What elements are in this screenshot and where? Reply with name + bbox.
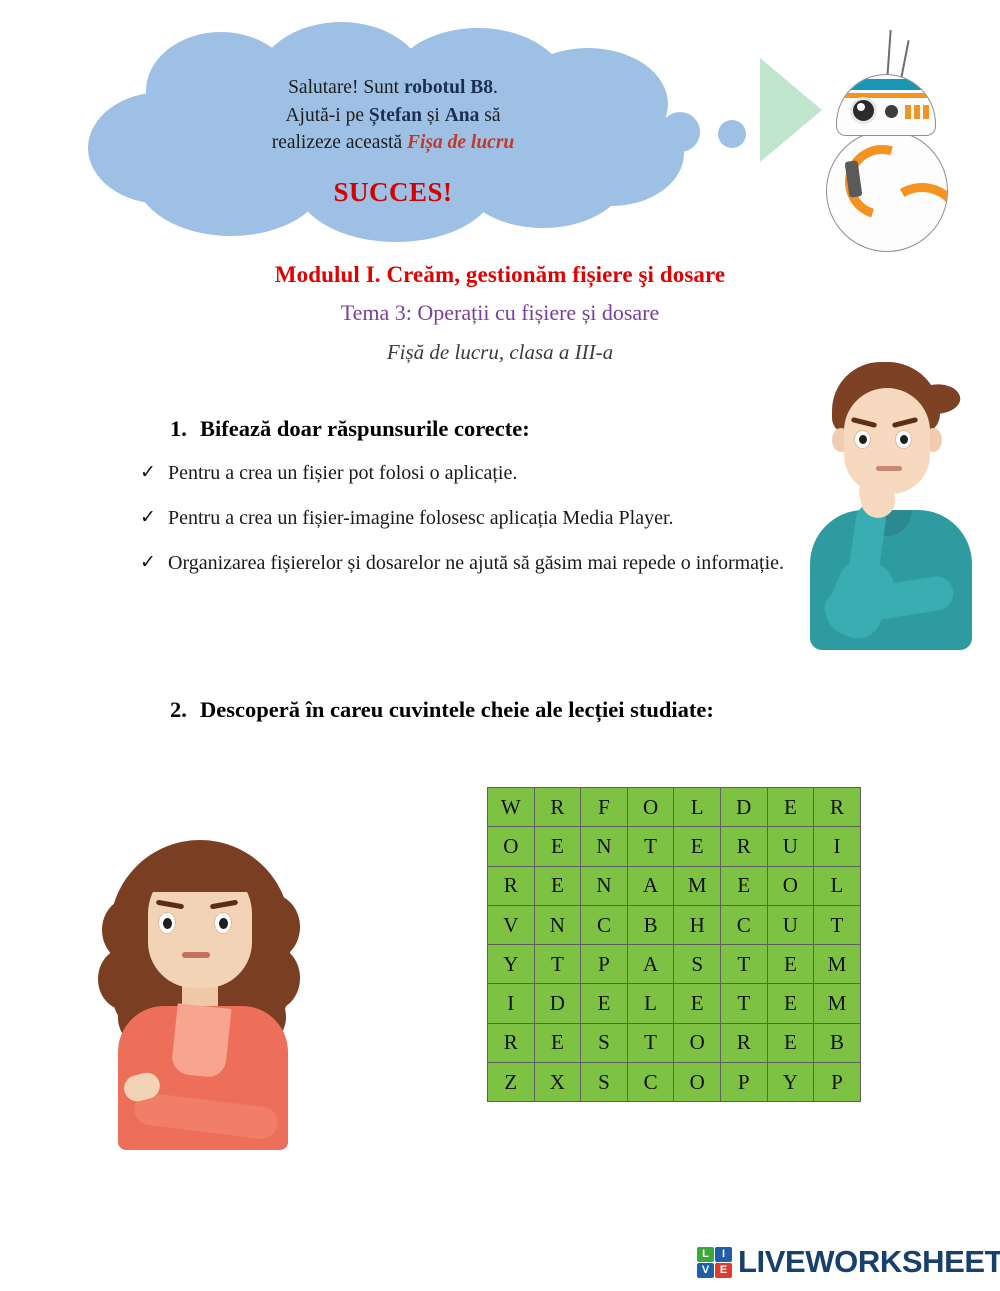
word-search-row: VNCBHCUT <box>488 905 861 944</box>
exercise-2-heading-text: Descoperă în careu cuvintele cheie ale l… <box>200 697 714 722</box>
bubble-line-1: Salutare! Sunt robotul B8. <box>88 74 698 102</box>
robot-antenna-long <box>886 30 892 78</box>
word-search-cell[interactable]: S <box>674 945 721 984</box>
word-search-row: YTPASTEM <box>488 945 861 984</box>
word-search-cell[interactable]: S <box>581 1023 628 1062</box>
word-search-cell[interactable]: A <box>627 945 674 984</box>
robot-main-eye-icon <box>850 97 877 124</box>
word-search-cell[interactable]: R <box>534 788 581 827</box>
word-search-cell[interactable]: E <box>674 827 721 866</box>
word-search-cell[interactable]: E <box>581 984 628 1023</box>
word-search-cell[interactable]: S <box>581 1063 628 1102</box>
word-search-cell[interactable]: F <box>581 788 628 827</box>
word-search-cell[interactable]: L <box>814 866 861 905</box>
word-search-cell[interactable]: E <box>534 866 581 905</box>
logo-tiles-icon: L I V E <box>697 1247 732 1278</box>
word-search-cell[interactable]: O <box>488 827 535 866</box>
bubble-line-3: realizeze această Fișa de lucru <box>88 129 698 157</box>
word-search-cell[interactable]: O <box>627 788 674 827</box>
word-search-cell[interactable]: N <box>581 827 628 866</box>
bubble-fisa-de-lucru: Fișa de lucru <box>407 132 514 153</box>
word-search-cell[interactable]: R <box>720 827 767 866</box>
robot-head-band <box>847 79 925 90</box>
word-search-cell[interactable]: P <box>581 945 628 984</box>
bubble-line2-part3: și <box>422 105 445 126</box>
speech-bubble: Salutare! Sunt robotul B8. Ajută-i pe Șt… <box>88 22 698 242</box>
answer-option[interactable]: ✓ Organizarea fișierelor și dosarelor ne… <box>140 548 800 579</box>
checkmark-icon[interactable]: ✓ <box>140 458 168 487</box>
robot-head-bar <box>914 105 920 119</box>
logo-tile-l: L <box>697 1247 714 1262</box>
word-search-cell[interactable]: E <box>720 866 767 905</box>
theme-title: Tema 3: Operații cu fișiere și dosare <box>0 300 1000 326</box>
girl-fringe <box>144 852 256 892</box>
girl-lapel <box>170 1003 231 1078</box>
word-search-cell[interactable]: T <box>720 945 767 984</box>
bubble-line-2: Ajută-i pe Ștefan și Ana să <box>88 102 698 130</box>
word-search-cell[interactable]: E <box>767 1023 814 1062</box>
checkmark-icon[interactable]: ✓ <box>140 548 168 577</box>
worksheet-titles: Modulul I. Creăm, gestionăm fișiere şi d… <box>0 262 1000 365</box>
word-search-cell[interactable]: E <box>534 827 581 866</box>
word-search-row: ZXSCOPYP <box>488 1063 861 1102</box>
word-search-cell[interactable]: E <box>767 788 814 827</box>
bubble-line2-part5: să <box>479 105 500 126</box>
logo-wordmark: LIVEWORKSHEETS <box>738 1244 1000 1280</box>
word-search-cell[interactable]: R <box>720 1023 767 1062</box>
word-search-cell[interactable]: V <box>488 905 535 944</box>
word-search-row: RESTOREB <box>488 1023 861 1062</box>
word-search-cell[interactable]: U <box>767 905 814 944</box>
logo-tile-v: V <box>697 1263 714 1278</box>
word-search-cell[interactable]: R <box>488 1023 535 1062</box>
robot-b8-illustration <box>812 26 962 254</box>
girl-character-illustration <box>96 832 310 1150</box>
word-search-cell[interactable]: X <box>534 1063 581 1102</box>
robot-head-bar <box>923 105 929 119</box>
word-search-cell[interactable]: B <box>814 1023 861 1062</box>
answer-option[interactable]: ✓ Pentru a crea un fișier pot folosi o a… <box>140 458 800 489</box>
word-search-cell[interactable]: T <box>814 905 861 944</box>
answer-option-label: Pentru a crea un fișier-imagine folosesc… <box>168 503 800 534</box>
word-search-cell[interactable]: N <box>534 905 581 944</box>
word-search-cell[interactable]: M <box>814 984 861 1023</box>
boy-pupil <box>859 435 867 444</box>
boy-pupil <box>900 435 908 444</box>
logo-tile-e: E <box>715 1263 732 1278</box>
word-search-cell[interactable]: N <box>581 866 628 905</box>
succes-text: SUCCES! <box>88 173 698 211</box>
word-search-cell[interactable]: A <box>627 866 674 905</box>
word-search-row: RENAMEOL <box>488 866 861 905</box>
word-search-cell[interactable]: O <box>674 1023 721 1062</box>
exercise-1-number: 1. <box>170 416 200 442</box>
word-search-row: IDELETEM <box>488 984 861 1023</box>
word-search-cell[interactable]: O <box>767 866 814 905</box>
word-search-cell[interactable]: T <box>534 945 581 984</box>
exercise-1-heading: 1.Bifează doar răspunsurile corecte: <box>170 416 810 442</box>
word-search-cell[interactable]: W <box>488 788 535 827</box>
liveworksheets-logo[interactable]: L I V E LIVEWORKSHEETS <box>697 1244 1000 1280</box>
word-search-cell[interactable]: T <box>627 827 674 866</box>
boy-mouth <box>876 466 902 471</box>
girl-pupil <box>163 918 172 929</box>
answer-option-label: Organizarea fișierelor și dosarelor ne a… <box>168 548 800 579</box>
answer-option-label: Pentru a crea un fișier pot folosi o apl… <box>168 458 800 489</box>
thought-dot-medium <box>718 120 746 148</box>
word-search-cell[interactable]: E <box>674 984 721 1023</box>
girl-mouth <box>182 952 210 958</box>
exercise-1-heading-text: Bifează doar răspunsurile corecte: <box>200 416 530 441</box>
word-search-cell[interactable]: P <box>814 1063 861 1102</box>
bubble-line2-part1: Ajută-i pe <box>285 105 368 126</box>
word-search-cell[interactable]: U <box>767 827 814 866</box>
exercise-2-number: 2. <box>170 697 200 723</box>
word-search-cell[interactable]: R <box>488 866 535 905</box>
robot-sensor-icon <box>885 105 898 118</box>
word-search-cell[interactable]: E <box>534 1023 581 1062</box>
word-search-cell[interactable]: L <box>674 788 721 827</box>
exercise-1-answer-list: ✓ Pentru a crea un fișier pot folosi o a… <box>140 458 800 593</box>
boy-character-illustration <box>796 362 986 647</box>
bubble-line1-part3: . <box>493 77 498 98</box>
word-search-cell[interactable]: M <box>814 945 861 984</box>
word-search-row: OENTERUI <box>488 827 861 866</box>
word-search-cell[interactable]: L <box>627 984 674 1023</box>
word-search-cell[interactable]: T <box>720 984 767 1023</box>
speech-bubble-text: Salutare! Sunt robotul B8. Ajută-i pe Șt… <box>88 74 698 211</box>
answer-option[interactable]: ✓ Pentru a crea un fișier-imagine folose… <box>140 503 800 534</box>
bubble-line3-part1: realizeze această <box>272 132 407 153</box>
word-search-cell[interactable]: C <box>581 905 628 944</box>
logo-tile-i: I <box>715 1247 732 1262</box>
word-search-cell[interactable]: Y <box>488 945 535 984</box>
word-search-cell[interactable]: Y <box>767 1063 814 1102</box>
robot-body <box>826 130 948 252</box>
word-search-cell[interactable]: E <box>767 945 814 984</box>
bubble-name-ana: Ana <box>445 105 480 126</box>
word-search-row: WRFOLDER <box>488 788 861 827</box>
robot-head-stripe <box>843 93 929 98</box>
bubble-line1-part1: Salutare! Sunt <box>288 77 404 98</box>
word-search-cell[interactable]: E <box>767 984 814 1023</box>
word-search-cell[interactable]: I <box>488 984 535 1023</box>
word-search-cell[interactable]: T <box>627 1023 674 1062</box>
word-search-grid[interactable]: WRFOLDEROENTERUIRENAMEOLVNCBHCUTYTPASTEM… <box>487 787 861 1102</box>
word-search-cell[interactable]: C <box>627 1063 674 1102</box>
word-search-cell[interactable]: O <box>674 1063 721 1102</box>
word-search-cell[interactable]: I <box>814 827 861 866</box>
bubble-name-stefan: Ștefan <box>369 105 422 126</box>
word-search-cell[interactable]: C <box>720 905 767 944</box>
word-search-cell[interactable]: R <box>814 788 861 827</box>
module-title: Modulul I. Creăm, gestionăm fișiere şi d… <box>0 262 1000 288</box>
word-search-cell[interactable]: Z <box>488 1063 535 1102</box>
word-search-cell[interactable]: H <box>674 905 721 944</box>
word-search-cell[interactable]: B <box>627 905 674 944</box>
word-search-cell[interactable]: D <box>720 788 767 827</box>
bubble-line1-bold: robotul B8 <box>404 77 493 98</box>
word-search-cell[interactable]: M <box>674 866 721 905</box>
robot-antenna-short <box>900 40 910 78</box>
checkmark-icon[interactable]: ✓ <box>140 503 168 532</box>
girl-pupil <box>219 918 228 929</box>
word-search-cell[interactable]: D <box>534 984 581 1023</box>
word-search-cell[interactable]: P <box>720 1063 767 1102</box>
robot-head <box>836 74 936 136</box>
robot-head-bar <box>905 105 911 119</box>
exercise-2-heading: 2.Descoperă în careu cuvintele cheie ale… <box>170 697 870 723</box>
